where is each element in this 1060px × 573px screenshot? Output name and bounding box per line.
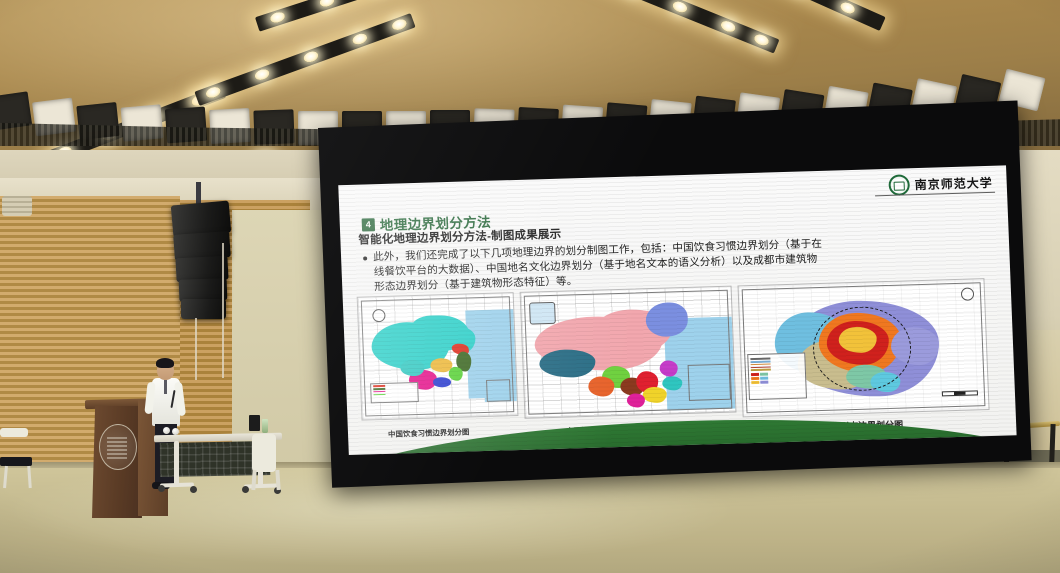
air-vent	[2, 196, 32, 216]
presenter-collar	[164, 380, 167, 394]
podium-university-seal	[99, 424, 137, 470]
speaker-cable	[195, 318, 197, 380]
chair-seat	[0, 457, 32, 466]
table-caster	[242, 486, 249, 493]
speaker-mount-rod	[196, 182, 201, 204]
table-leg	[174, 441, 179, 486]
chair-backrest	[252, 434, 276, 472]
screenshot-root: 南京师范大学 4 地理边界划分方法 智能化地理边界划分方法-制图成果展示 此外，…	[0, 0, 1060, 573]
microphone-head	[172, 428, 179, 435]
microphone-head	[163, 427, 170, 434]
water-bottle	[262, 419, 268, 433]
display-glare	[318, 101, 1032, 488]
line-array-speaker	[181, 299, 226, 319]
presenter-hair	[156, 358, 174, 368]
chair-backrest	[0, 428, 28, 437]
table-caster	[158, 485, 165, 492]
laptop	[249, 415, 260, 431]
speaker-cable	[222, 243, 224, 378]
table-caster	[190, 486, 197, 493]
led-wall-display: 南京师范大学 4 地理边界划分方法 智能化地理边界划分方法-制图成果展示 此外，…	[318, 101, 1032, 488]
